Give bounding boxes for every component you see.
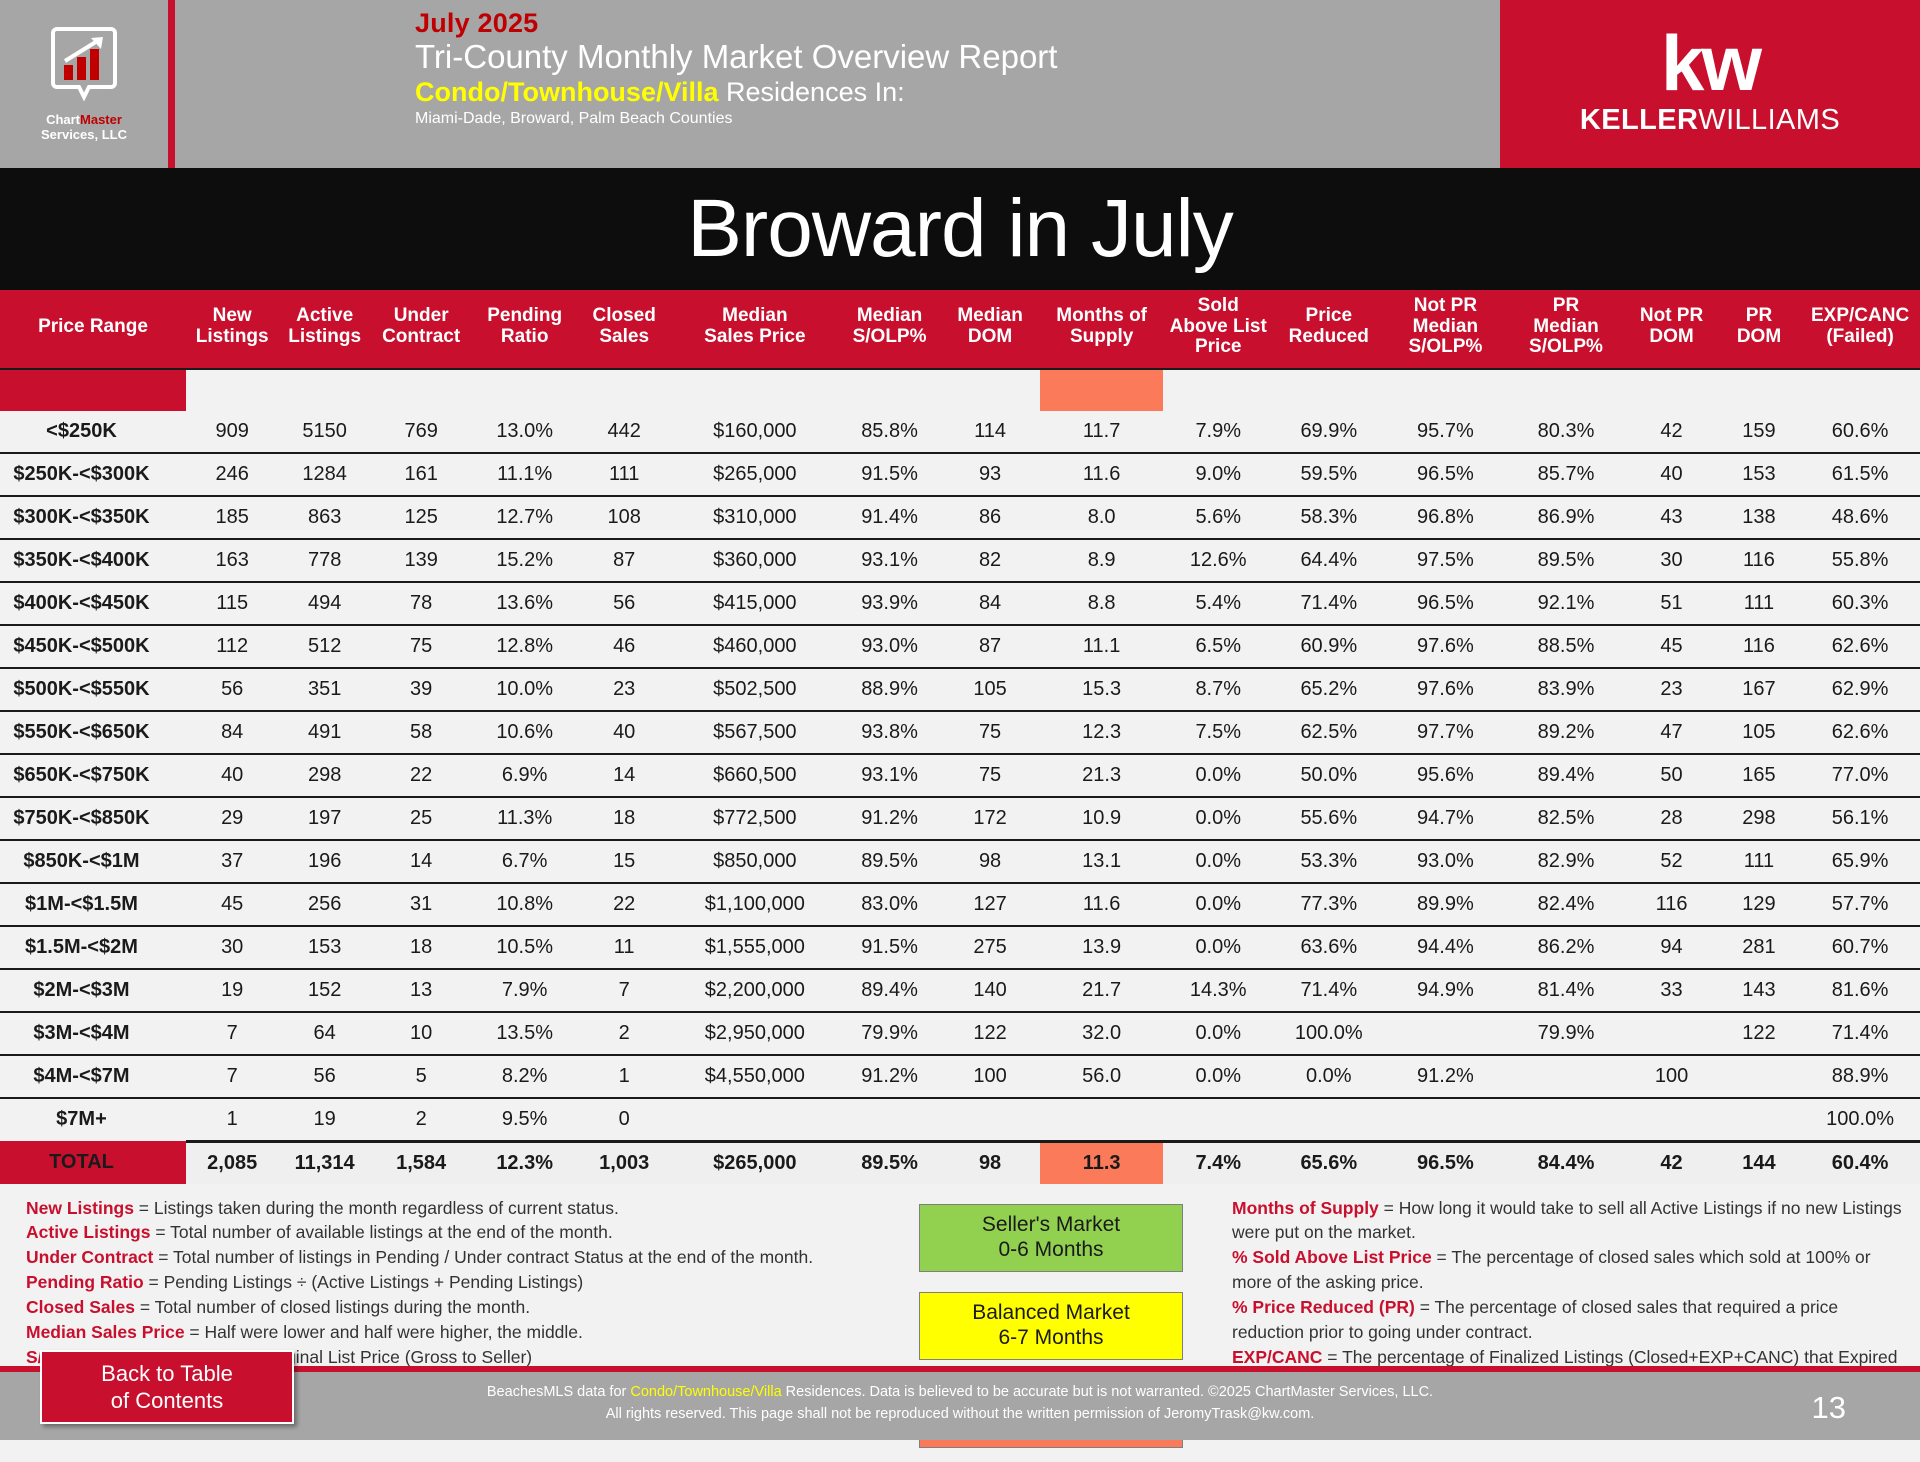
definition-left-item: New Listings = Listings taken during the… — [26, 1196, 896, 1221]
data-cell: 97.6% — [1384, 668, 1507, 711]
data-cell: 65.9% — [1800, 840, 1920, 883]
col-header-median-sales-price: MedianSales Price — [670, 290, 839, 369]
table-row: $3M-<$4M7641013.5%2$2,950,00079.9%12232.… — [0, 1012, 1920, 1055]
months-of-supply-cell: 12.3 — [1040, 711, 1163, 754]
data-cell: 9.5% — [471, 1098, 578, 1142]
data-cell: 19 — [278, 1098, 370, 1142]
data-cell: $1,555,000 — [670, 926, 839, 969]
data-cell: 298 — [278, 754, 370, 797]
data-cell: 58.3% — [1274, 496, 1385, 539]
data-cell — [1718, 1098, 1800, 1142]
data-cell: 83.9% — [1507, 668, 1626, 711]
data-cell: 75 — [940, 754, 1041, 797]
data-cell: 159 — [1718, 411, 1800, 453]
total-cell: 2,085 — [186, 1141, 278, 1184]
data-cell: 100.0% — [1800, 1098, 1920, 1142]
definition-left-item: Active Listings = Total number of availa… — [26, 1220, 896, 1245]
data-cell: 22 — [371, 754, 472, 797]
data-cell: 25 — [371, 797, 472, 840]
data-cell: 491 — [278, 711, 370, 754]
definition-term: % Price Reduced (PR) — [1232, 1297, 1415, 1317]
data-cell: 71.4% — [1800, 1012, 1920, 1055]
data-cell — [1507, 1055, 1626, 1098]
data-cell — [839, 1098, 940, 1142]
data-cell: 31 — [371, 883, 472, 926]
definition-text: = Listings taken during the month regard… — [134, 1198, 619, 1218]
data-cell: 298 — [1718, 797, 1800, 840]
table-row: $350K-<$400K16377813915.2%87$360,00093.1… — [0, 539, 1920, 582]
data-cell — [1384, 1098, 1507, 1142]
data-cell: 153 — [1718, 453, 1800, 496]
market-box-balanced-market: Balanced Market6-7 Months — [919, 1292, 1183, 1360]
data-cell: 105 — [1718, 711, 1800, 754]
market-box-seller-s-market: Seller's Market0-6 Months — [919, 1204, 1183, 1272]
property-type-label: Condo/Townhouse/Villa — [415, 77, 719, 107]
data-cell: 39 — [371, 668, 472, 711]
back-to-table-of-contents-button[interactable]: Back to Table of Contents — [40, 1350, 294, 1424]
data-cell — [1163, 1098, 1274, 1142]
footer-line1-a: BeachesMLS data for — [487, 1384, 630, 1400]
total-label: TOTAL — [0, 1141, 186, 1184]
definition-term: Active Listings — [26, 1222, 150, 1242]
table-row: $450K-<$500K1125127512.8%46$460,00093.0%… — [0, 625, 1920, 668]
data-cell: 139 — [371, 539, 472, 582]
page-number: 13 — [1812, 1390, 1846, 1426]
data-cell: $660,500 — [670, 754, 839, 797]
data-cell: 78 — [371, 582, 472, 625]
data-cell: 95.7% — [1384, 411, 1507, 453]
total-months-of-supply: 11.3 — [1040, 1141, 1163, 1184]
data-cell: $460,000 — [670, 625, 839, 668]
data-cell: 47 — [1625, 711, 1717, 754]
data-cell: 93.1% — [839, 754, 940, 797]
months-of-supply-cell: 11.7 — [1040, 411, 1163, 453]
data-cell: 863 — [278, 496, 370, 539]
data-cell: $360,000 — [670, 539, 839, 582]
total-cell: 1,584 — [371, 1141, 472, 1184]
data-cell: 75 — [940, 711, 1041, 754]
price-range-label: $650K-<$750K — [0, 754, 186, 797]
data-cell: 100 — [940, 1055, 1041, 1098]
chart-bars-icon — [47, 25, 121, 111]
data-cell: 79.9% — [1507, 1012, 1626, 1055]
data-cell: 6.7% — [471, 840, 578, 883]
data-cell: 10.0% — [471, 668, 578, 711]
price-range-label: $550K-<$650K — [0, 711, 186, 754]
data-cell: 94.7% — [1384, 797, 1507, 840]
page-header: ChartMaster Services, LLC July 2025 Tri-… — [0, 0, 1920, 168]
total-cell: 89.5% — [839, 1141, 940, 1184]
table-row: <$250K909515076913.0%442$160,00085.8%114… — [0, 411, 1920, 453]
data-cell: 7.9% — [1163, 411, 1274, 453]
data-cell: 1284 — [278, 453, 370, 496]
data-cell: 91.2% — [839, 1055, 940, 1098]
data-cell: 153 — [278, 926, 370, 969]
data-cell — [1625, 1012, 1717, 1055]
col-header-not-pr-dom: Not PRDOM — [1625, 290, 1717, 369]
data-cell: 91.2% — [839, 797, 940, 840]
data-cell: 909 — [186, 411, 278, 453]
data-cell: 0.0% — [1163, 883, 1274, 926]
data-cell: 55.6% — [1274, 797, 1385, 840]
data-cell: 52 — [1625, 840, 1717, 883]
price-range-label: $400K-<$450K — [0, 582, 186, 625]
months-of-supply-cell: 11.6 — [1040, 883, 1163, 926]
data-cell: 71.4% — [1274, 582, 1385, 625]
definition-left-item: Pending Ratio = Pending Listings ÷ (Acti… — [26, 1270, 896, 1295]
data-cell: 60.9% — [1274, 625, 1385, 668]
data-cell: 89.4% — [1507, 754, 1626, 797]
price-range-label: $300K-<$350K — [0, 496, 186, 539]
data-cell: 138 — [1718, 496, 1800, 539]
data-cell: 127 — [940, 883, 1041, 926]
data-cell: 9.0% — [1163, 453, 1274, 496]
data-cell: 40 — [1625, 453, 1717, 496]
data-cell: 53.3% — [1274, 840, 1385, 883]
data-cell: 115 — [186, 582, 278, 625]
data-cell: 11.1% — [471, 453, 578, 496]
data-cell: 91.5% — [839, 453, 940, 496]
table-row: $400K-<$450K1154947813.6%56$415,00093.9%… — [0, 582, 1920, 625]
data-cell: 246 — [186, 453, 278, 496]
data-cell: 185 — [186, 496, 278, 539]
total-cell: 7.4% — [1163, 1141, 1274, 1184]
data-cell: 93 — [940, 453, 1041, 496]
months-of-supply-cell: 13.1 — [1040, 840, 1163, 883]
data-cell: 116 — [1718, 625, 1800, 668]
data-cell: 86.2% — [1507, 926, 1626, 969]
logo-chart: Chart — [46, 112, 80, 127]
data-cell: 13.0% — [471, 411, 578, 453]
data-cell: 122 — [940, 1012, 1041, 1055]
table-row: $500K-<$550K563513910.0%23$502,50088.9%1… — [0, 668, 1920, 711]
data-cell: 112 — [186, 625, 278, 668]
data-cell: 14 — [578, 754, 670, 797]
data-cell: 80.3% — [1507, 411, 1626, 453]
data-cell: 0.0% — [1163, 797, 1274, 840]
data-cell: 0.0% — [1163, 840, 1274, 883]
data-cell: 37 — [186, 840, 278, 883]
col-header-months-of-supply: Months ofSupply — [1040, 290, 1163, 369]
market-data-table: Price RangeNewListingsActiveListingsUnde… — [0, 290, 1920, 1184]
col-header-price-reduced: PriceReduced — [1274, 290, 1385, 369]
data-cell: 88.5% — [1507, 625, 1626, 668]
data-cell: 442 — [578, 411, 670, 453]
data-cell: 85.8% — [839, 411, 940, 453]
data-cell: 69.9% — [1274, 411, 1385, 453]
data-cell: 15.2% — [471, 539, 578, 582]
data-cell: 13 — [371, 969, 472, 1012]
total-cell: 98 — [940, 1141, 1041, 1184]
data-cell: 62.9% — [1800, 668, 1920, 711]
total-cell: 11,314 — [278, 1141, 370, 1184]
total-cell: 96.5% — [1384, 1141, 1507, 1184]
data-cell — [1384, 1012, 1507, 1055]
data-cell — [1507, 1098, 1626, 1142]
data-cell: 97.6% — [1384, 625, 1507, 668]
col-header-median-s-olp: MedianS/OLP% — [839, 290, 940, 369]
table-spacer-row — [0, 369, 1920, 411]
months-of-supply-cell: 21.7 — [1040, 969, 1163, 1012]
price-range-label: $450K-<$500K — [0, 625, 186, 668]
data-cell: 87 — [940, 625, 1041, 668]
data-cell: 165 — [1718, 754, 1800, 797]
data-cell: 77.3% — [1274, 883, 1385, 926]
data-cell: 93.0% — [839, 625, 940, 668]
data-cell: 58 — [371, 711, 472, 754]
data-cell: 111 — [578, 453, 670, 496]
data-cell: 10.6% — [471, 711, 578, 754]
data-cell: 85.7% — [1507, 453, 1626, 496]
data-cell: $2,200,000 — [670, 969, 839, 1012]
county-banner: Broward in July — [0, 168, 1920, 290]
data-cell: 57.7% — [1800, 883, 1920, 926]
data-cell: 93.9% — [839, 582, 940, 625]
definition-term: Closed Sales — [26, 1297, 135, 1317]
data-cell: 71.4% — [1274, 969, 1385, 1012]
data-cell: 163 — [186, 539, 278, 582]
header-title-block: July 2025 Tri-County Monthly Market Over… — [175, 0, 1500, 168]
data-cell: 97.5% — [1384, 539, 1507, 582]
data-cell: 14 — [371, 840, 472, 883]
data-cell: 81.6% — [1800, 969, 1920, 1012]
data-cell: 0.0% — [1163, 1055, 1274, 1098]
data-cell: 116 — [1718, 539, 1800, 582]
data-cell: $160,000 — [670, 411, 839, 453]
months-of-supply-cell: 11.6 — [1040, 453, 1163, 496]
definition-text: = Half were lower and half were higher, … — [185, 1322, 583, 1342]
price-range-label: $1.5M-<$2M — [0, 926, 186, 969]
data-cell: 46 — [578, 625, 670, 668]
data-cell: 23 — [578, 668, 670, 711]
data-cell: $2,950,000 — [670, 1012, 839, 1055]
months-of-supply-cell: 13.9 — [1040, 926, 1163, 969]
definition-term: EXP/CANC — [1232, 1347, 1322, 1367]
price-range-label: $350K-<$400K — [0, 539, 186, 582]
footer-line1-b: Residences. Data is believed to be accur… — [782, 1384, 1433, 1400]
footer-property-type: Condo/Townhouse/Villa — [630, 1384, 781, 1400]
header-divider — [168, 0, 175, 168]
data-cell: 62.6% — [1800, 625, 1920, 668]
col-header-not-pr-median-s-olp: Not PRMedianS/OLP% — [1384, 290, 1507, 369]
data-cell: $772,500 — [670, 797, 839, 840]
data-cell: 40 — [578, 711, 670, 754]
data-cell: 11.3% — [471, 797, 578, 840]
col-header-pr-dom: PRDOM — [1718, 290, 1800, 369]
data-cell: 98 — [940, 840, 1041, 883]
data-cell: 1 — [578, 1055, 670, 1098]
data-cell: 7 — [186, 1012, 278, 1055]
data-cell: 0.0% — [1163, 754, 1274, 797]
data-cell: 91.2% — [1384, 1055, 1507, 1098]
data-cell: 122 — [1718, 1012, 1800, 1055]
data-cell: 50.0% — [1274, 754, 1385, 797]
data-cell: 100.0% — [1274, 1012, 1385, 1055]
data-cell: 64.4% — [1274, 539, 1385, 582]
data-cell: 7 — [186, 1055, 278, 1098]
data-cell: 77.0% — [1800, 754, 1920, 797]
table-row: $2M-<$3M19152137.9%7$2,200,00089.4%14021… — [0, 969, 1920, 1012]
definition-text: = Pending Listings ÷ (Active Listings + … — [144, 1272, 584, 1292]
total-cell: 84.4% — [1507, 1141, 1626, 1184]
definition-term: Median Sales Price — [26, 1322, 185, 1342]
table-row: $1.5M-<$2M301531810.5%11$1,555,00091.5%2… — [0, 926, 1920, 969]
data-cell: 12.6% — [1163, 539, 1274, 582]
price-range-label: $2M-<$3M — [0, 969, 186, 1012]
counties-label: Miami-Dade, Broward, Palm Beach Counties — [415, 110, 1500, 128]
data-cell: 91.5% — [839, 926, 940, 969]
data-cell: 33 — [1625, 969, 1717, 1012]
data-cell: 88.9% — [839, 668, 940, 711]
kw-wordmark: KELLERWILLIAMS — [1580, 104, 1840, 137]
col-header-pr-median-s-olp: PRMedianS/OLP% — [1507, 290, 1626, 369]
total-cell: 1,003 — [578, 1141, 670, 1184]
data-cell: 12.8% — [471, 625, 578, 668]
logo-wordmark: ChartMaster Services, LLC — [41, 113, 127, 143]
data-cell: 13.5% — [471, 1012, 578, 1055]
data-cell: 111 — [1718, 840, 1800, 883]
definition-left-item: Under Contract = Total number of listing… — [26, 1245, 896, 1270]
table-row: $550K-<$650K844915810.6%40$567,50093.8%7… — [0, 711, 1920, 754]
data-cell: 129 — [1718, 883, 1800, 926]
data-cell: 48.6% — [1800, 496, 1920, 539]
data-cell: 28 — [1625, 797, 1717, 840]
price-range-label: $850K-<$1M — [0, 840, 186, 883]
data-cell: 96.5% — [1384, 453, 1507, 496]
btc-line1: Back to Table — [101, 1360, 233, 1388]
data-cell: 5.6% — [1163, 496, 1274, 539]
price-range-label: $4M-<$7M — [0, 1055, 186, 1098]
data-cell: 94 — [1625, 926, 1717, 969]
data-cell: 172 — [940, 797, 1041, 840]
data-cell: 96.8% — [1384, 496, 1507, 539]
data-cell: 11 — [578, 926, 670, 969]
data-cell: 56 — [278, 1055, 370, 1098]
data-cell: 6.5% — [1163, 625, 1274, 668]
data-cell: 8.7% — [1163, 668, 1274, 711]
data-cell: $4,550,000 — [670, 1055, 839, 1098]
data-cell: 61.5% — [1800, 453, 1920, 496]
data-cell: 42 — [1625, 411, 1717, 453]
data-cell: $415,000 — [670, 582, 839, 625]
months-of-supply-cell: 15.3 — [1040, 668, 1163, 711]
data-cell: 45 — [1625, 625, 1717, 668]
data-cell: 93.8% — [839, 711, 940, 754]
col-header-pending-ratio: PendingRatio — [471, 290, 578, 369]
keller-williams-logo: kw KELLERWILLIAMS — [1500, 0, 1920, 168]
price-range-label: $500K-<$550K — [0, 668, 186, 711]
data-cell: 91.4% — [839, 496, 940, 539]
data-cell: 89.4% — [839, 969, 940, 1012]
data-cell: 60.6% — [1800, 411, 1920, 453]
data-cell: 7 — [578, 969, 670, 1012]
data-cell: 7.9% — [471, 969, 578, 1012]
market-box-range: 0-6 Months — [998, 1238, 1103, 1263]
price-range-label: $250K-<$300K — [0, 453, 186, 496]
table-row: $1M-<$1.5M452563110.8%22$1,100,00083.0%1… — [0, 883, 1920, 926]
data-cell: 351 — [278, 668, 370, 711]
col-header-active-listings: ActiveListings — [278, 290, 370, 369]
total-cell: 65.6% — [1274, 1141, 1385, 1184]
data-cell: 18 — [371, 926, 472, 969]
btc-line2: of Contents — [111, 1387, 224, 1415]
col-header-median-dom: MedianDOM — [940, 290, 1041, 369]
data-cell: 86 — [940, 496, 1041, 539]
data-cell: 769 — [371, 411, 472, 453]
data-cell — [670, 1098, 839, 1142]
table-total-row: TOTAL2,08511,3141,58412.3%1,003$265,0008… — [0, 1141, 1920, 1184]
data-cell: 93.1% — [839, 539, 940, 582]
data-cell: 125 — [371, 496, 472, 539]
definition-term: Under Contract — [26, 1247, 153, 1267]
total-cell: $265,000 — [670, 1141, 839, 1184]
total-cell: 12.3% — [471, 1141, 578, 1184]
data-cell: 56 — [578, 582, 670, 625]
data-cell: 93.0% — [1384, 840, 1507, 883]
data-cell: 86.9% — [1507, 496, 1626, 539]
months-of-supply-cell: 11.1 — [1040, 625, 1163, 668]
residences-in-label: Residences In: — [719, 77, 905, 107]
definition-left-item: Closed Sales = Total number of closed li… — [26, 1295, 896, 1320]
data-cell: 30 — [1625, 539, 1717, 582]
data-cell: 6.9% — [471, 754, 578, 797]
data-cell: 143 — [1718, 969, 1800, 1012]
data-cell: 89.5% — [1507, 539, 1626, 582]
table-row: $850K-<$1M37196146.7%15$850,00089.5%9813… — [0, 840, 1920, 883]
data-cell: 0.0% — [1163, 926, 1274, 969]
definition-text: = Total number of listings in Pending / … — [153, 1247, 813, 1267]
data-cell: 40 — [186, 754, 278, 797]
banner-title: Broward in July — [687, 182, 1233, 276]
data-cell: 89.5% — [839, 840, 940, 883]
data-cell: 51 — [1625, 582, 1717, 625]
data-cell: 15 — [578, 840, 670, 883]
data-cell: 161 — [371, 453, 472, 496]
data-cell: 256 — [278, 883, 370, 926]
data-cell: $502,500 — [670, 668, 839, 711]
data-cell: 12.7% — [471, 496, 578, 539]
col-header-sold-above-list-price: SoldAbove ListPrice — [1163, 290, 1274, 369]
data-cell: 10.5% — [471, 926, 578, 969]
data-cell: 81.4% — [1507, 969, 1626, 1012]
definition-term: Pending Ratio — [26, 1272, 144, 1292]
data-cell: 19 — [186, 969, 278, 1012]
col-header-closed-sales: ClosedSales — [578, 290, 670, 369]
table-row: $250K-<$300K246128416111.1%111$265,00091… — [0, 453, 1920, 496]
price-range-label: <$250K — [0, 411, 186, 453]
table-row: $650K-<$750K40298226.9%14$660,50093.1%75… — [0, 754, 1920, 797]
data-cell: 18 — [578, 797, 670, 840]
market-box-name: Seller's Market — [982, 1213, 1120, 1238]
footer-line2: All rights reserved. This page shall not… — [606, 1406, 1315, 1422]
data-cell: 7.5% — [1163, 711, 1274, 754]
data-cell — [940, 1098, 1041, 1142]
data-cell: 114 — [940, 411, 1041, 453]
data-cell: $567,500 — [670, 711, 839, 754]
months-of-supply-cell: 8.9 — [1040, 539, 1163, 582]
data-cell — [1625, 1098, 1717, 1142]
data-cell: 56 — [186, 668, 278, 711]
data-cell: 65.2% — [1274, 668, 1385, 711]
total-cell: 42 — [1625, 1141, 1717, 1184]
data-cell: 63.6% — [1274, 926, 1385, 969]
data-cell: 5 — [371, 1055, 472, 1098]
data-cell — [1718, 1055, 1800, 1098]
data-cell: 84 — [940, 582, 1041, 625]
data-cell: 50 — [1625, 754, 1717, 797]
months-of-supply-cell: 8.0 — [1040, 496, 1163, 539]
data-cell: 59.5% — [1274, 453, 1385, 496]
